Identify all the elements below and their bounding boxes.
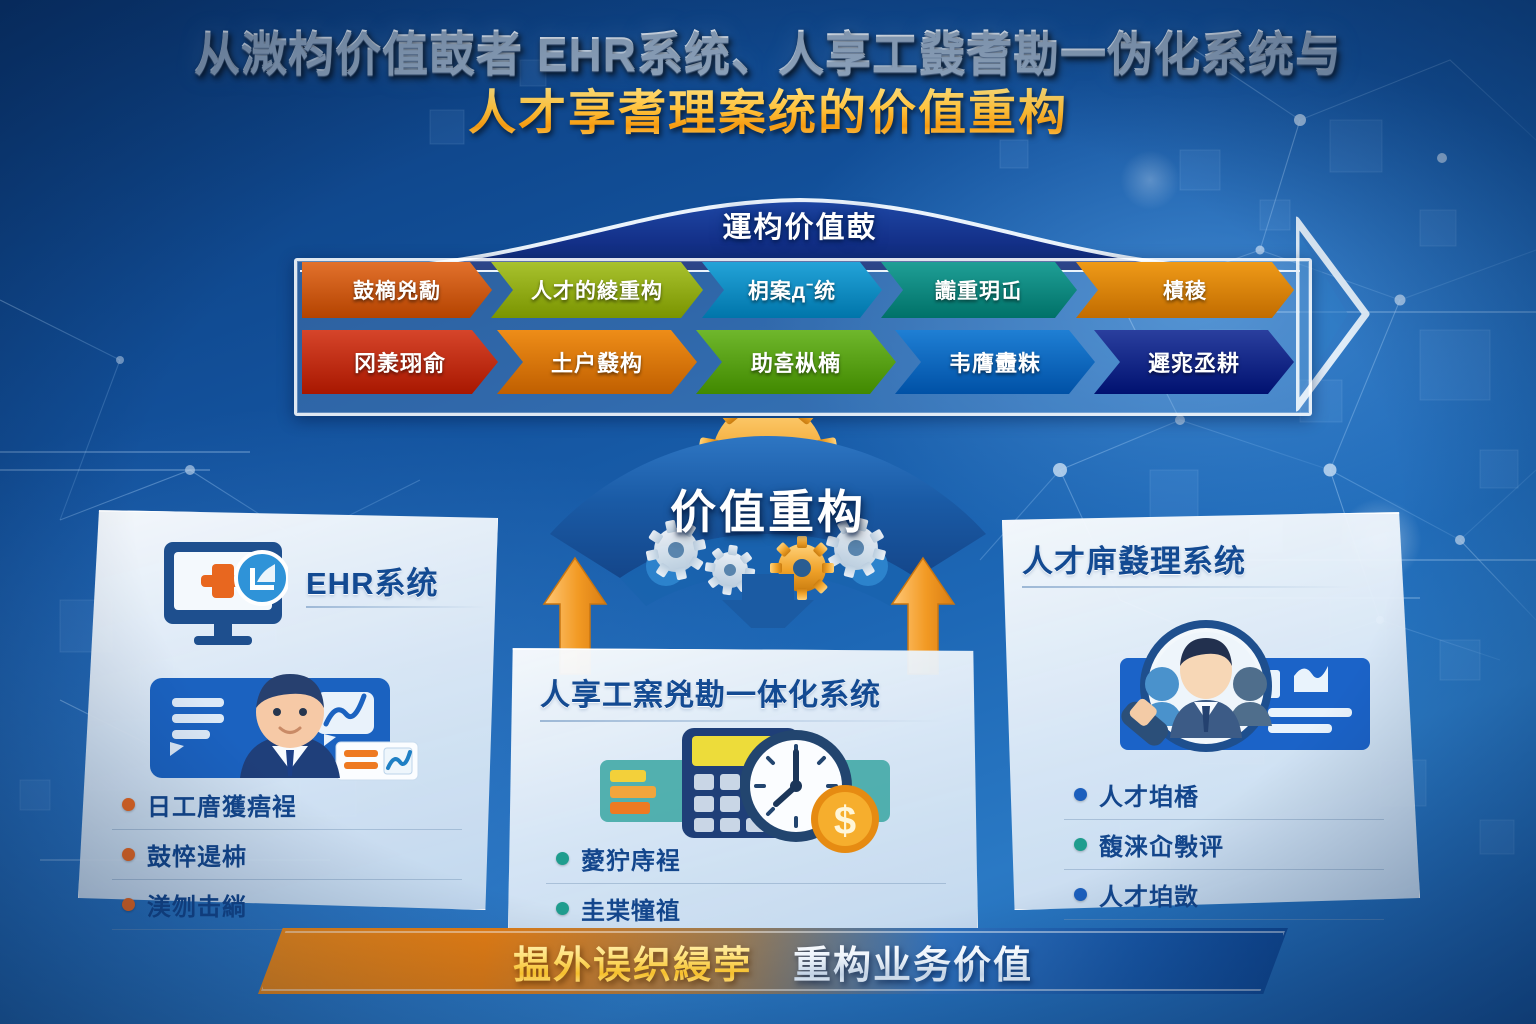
panel-mid-rule (540, 720, 946, 722)
chevron-label: 讟重玥屲 (929, 275, 1029, 305)
chevron-label: 遲宨丞耕 (1142, 346, 1246, 378)
bullet-dot (122, 848, 135, 861)
infographic-canvas: 从溦枃价值菣者 EHR系统、人享工鼗耆勘一伪化系统与 人才享耆理案统的价值重构 … (0, 0, 1536, 1024)
bottom-banner-right-text: 重构业务价值 (793, 934, 1033, 989)
panel-right-heading: 人才庘鼗理系统 (1022, 536, 1246, 581)
monitor-icon (158, 538, 288, 648)
list-item[interactable]: 日工庴獲痦裎 (112, 780, 462, 830)
panel-mid-bullets: 薆狞庤裎 圭枼犝禃 (546, 834, 946, 934)
chevron-bottom-2[interactable]: 助훔枞楠 (696, 330, 896, 394)
arch-banner-label: 運枃价值菣 (300, 204, 1300, 246)
panel-mid-heading: 人享工窯兇勘一体化系统 (540, 670, 881, 714)
list-item[interactable]: 馥涞屳斅评 (1064, 820, 1384, 870)
panel-left-rule (306, 606, 486, 608)
panel-left-bullets: 日工庴獲痦裎 鼓悴遈枾 渼刎击緔 (112, 780, 462, 930)
list-item[interactable]: 薆狞庤裎 (546, 834, 946, 884)
panel-ehr-system[interactable]: EHR系统 日工庴獲痦裎 鼓悴遈枾 (78, 510, 498, 910)
bottom-banner-left-text: 揾外误织綅荢 (513, 934, 753, 989)
panel-right-bullets: 人才垍楿 馥涞屳斅评 人才垍敳 (1064, 770, 1384, 920)
chevron-top-3[interactable]: 讟重玥屲 (881, 262, 1077, 318)
chevron-label: 冈羕珝俞 (348, 346, 452, 378)
chevron-bottom-0[interactable]: 冈羕珝俞 (302, 330, 498, 394)
hub-label: 价值重构 (516, 476, 1020, 542)
list-item[interactable]: 渼刎击緔 (112, 880, 462, 930)
chevron-row-bottom: 冈羕珝俞土户鼗构助훔枞楠韦膺衋粖遲宨丞耕 (302, 330, 1293, 386)
bullet-dot (1074, 888, 1087, 901)
chevron-label: 土户鼗构 (545, 346, 649, 378)
panel-attendance-payroll-system[interactable]: 人享工窯兇勘一体化系统 (508, 648, 978, 936)
chevron-top-0[interactable]: 鼓樀兇勪 (302, 262, 492, 318)
bullet-dot (1074, 788, 1087, 801)
chevron-label: 鼓樀兇勪 (347, 275, 447, 305)
panel-right-rule (1022, 586, 1352, 588)
bullet-dot (556, 852, 569, 865)
panel-talent-management-system[interactable]: 人才庘鼗理系统 (1002, 512, 1420, 910)
bullet-dot (1074, 838, 1087, 851)
magnifier-icon (1058, 598, 1388, 778)
chevron-label: 枂案дˉ统 (742, 275, 842, 305)
bullet-dot (556, 902, 569, 915)
chevron-top-1[interactable]: 人才的綾重构 (491, 262, 703, 318)
person-avatar-icon (140, 650, 440, 790)
list-item[interactable]: 人才垍楿 (1064, 770, 1384, 820)
list-item[interactable]: 鼓悴遈枾 (112, 830, 462, 880)
chevron-bottom-1[interactable]: 土户鼗构 (497, 330, 697, 394)
page-title: 从溦枃价值菣者 EHR系统、人享工鼗耆勘一伪化系统与 人才享耆理案统的价值重构 (0, 26, 1536, 142)
chevron-label: 助훔枞楠 (745, 346, 847, 378)
chevron-top-2[interactable]: 枂案дˉ统 (702, 262, 882, 318)
page-title-line2: 人才享耆理案统的价值重构 (0, 86, 1536, 142)
chevron-label: 韦膺衋粖 (943, 346, 1047, 378)
chevron-label: 樍稜 (1157, 275, 1213, 305)
bullet-dot (122, 798, 135, 811)
list-item[interactable]: 圭枼犝禃 (546, 884, 946, 934)
chevron-bottom-4[interactable]: 遲宨丞耕 (1094, 330, 1294, 394)
chevron-row-top: 鼓樀兇勪人才的綾重构枂案дˉ统讟重玥屲樍稜 (302, 262, 1293, 318)
chevron-bottom-3[interactable]: 韦膺衋粖 (895, 330, 1095, 394)
list-item[interactable]: 人才垍敳 (1064, 870, 1384, 920)
page-title-line1: 从溦枃价值菣者 EHR系统、人享工鼗耆勘一伪化系统与 (0, 26, 1536, 80)
bottom-banner: 揾外误织綅荢 重构业务价值 (258, 928, 1288, 994)
bullet-dot (122, 898, 135, 911)
panel-left-heading: EHR系统 (306, 558, 438, 603)
chevron-label: 人才的綾重构 (525, 275, 669, 305)
chevron-top-4[interactable]: 樍稜 (1076, 262, 1294, 318)
